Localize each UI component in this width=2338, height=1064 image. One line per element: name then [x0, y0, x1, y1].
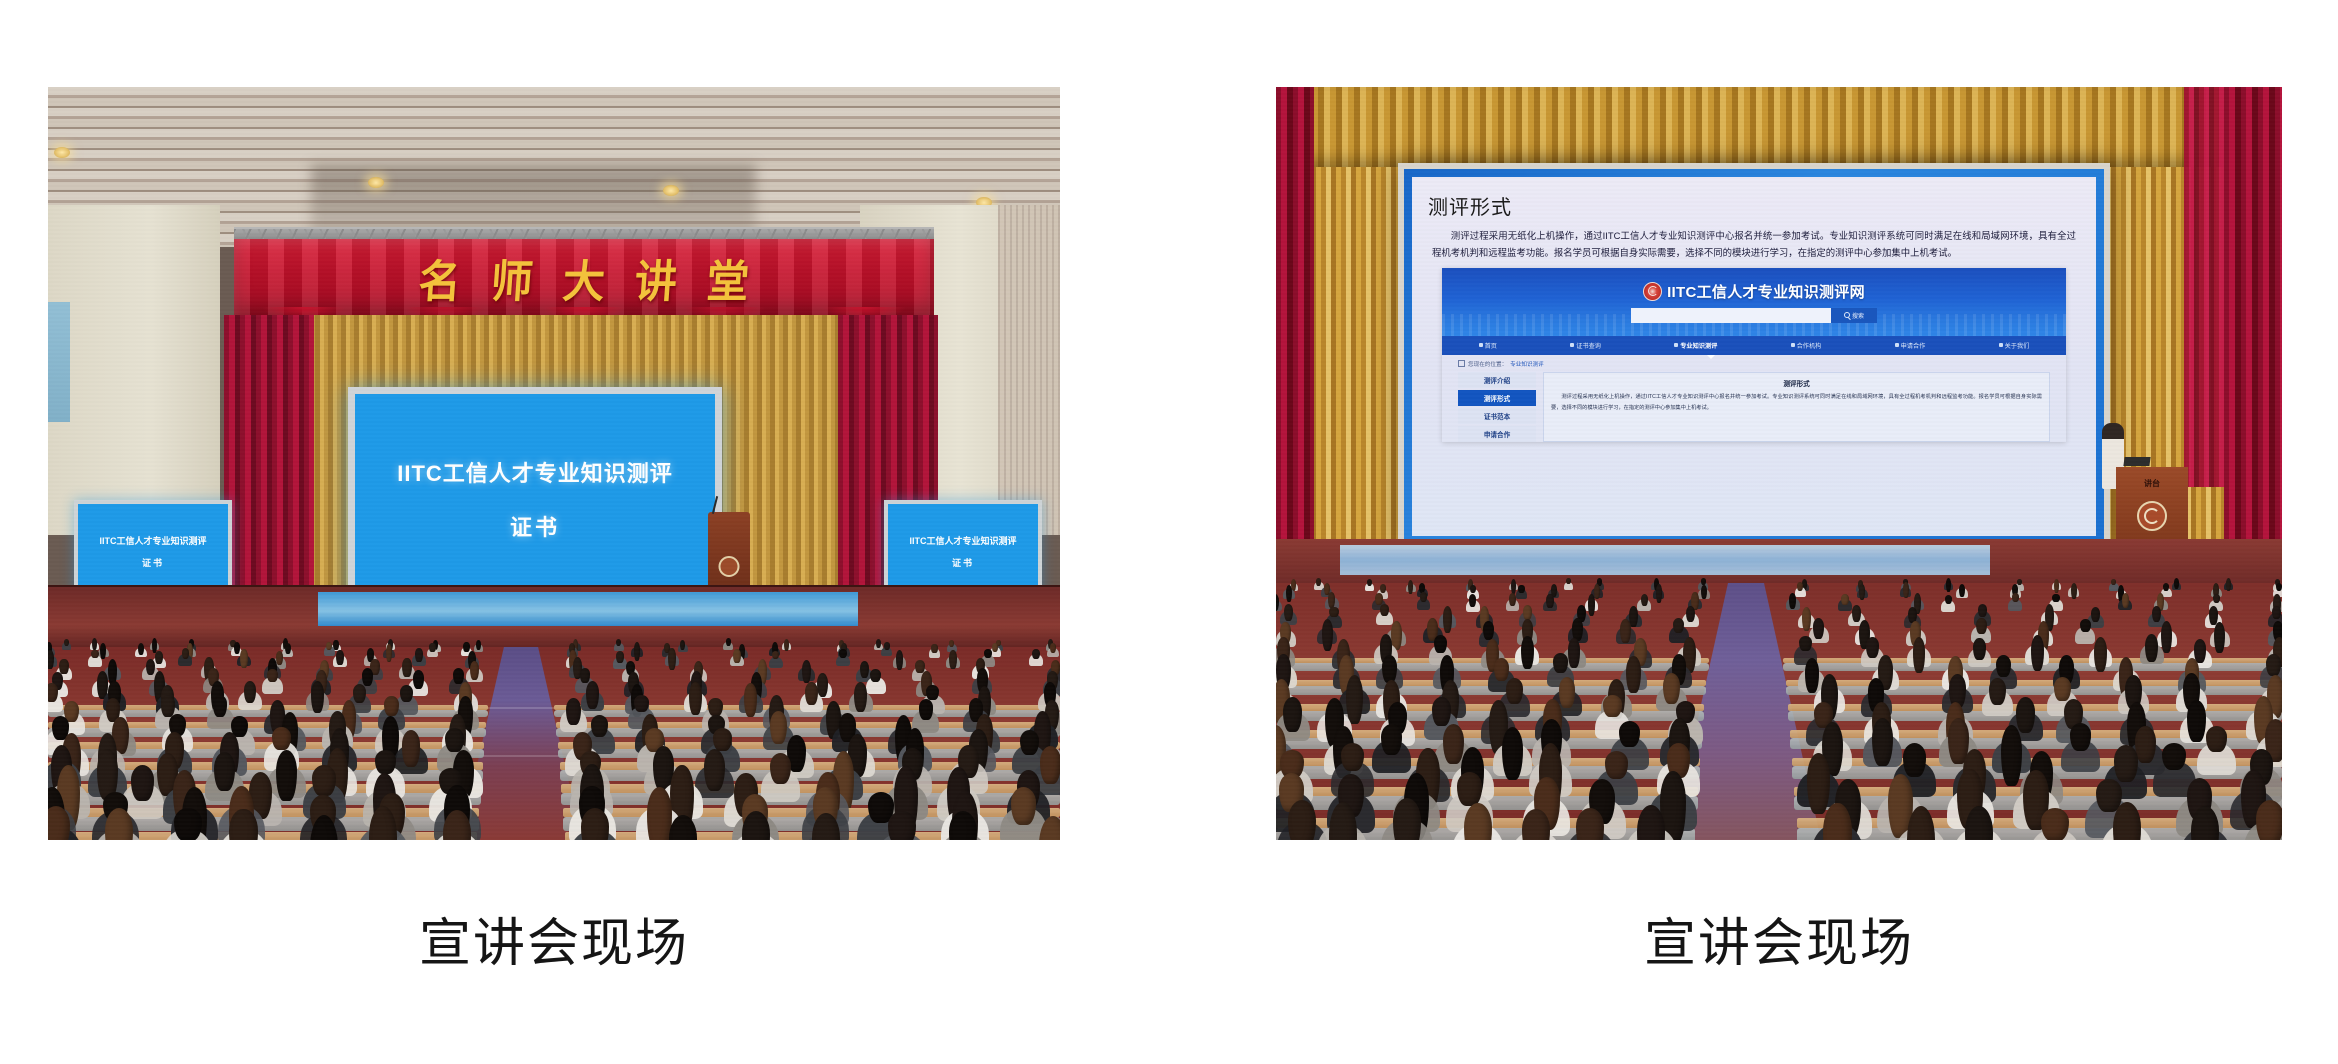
- audience-member-head: [949, 650, 957, 668]
- nav-item-label: 专业知识测评: [1680, 341, 1717, 350]
- main-screen-line-1: IITC工信人才专业知识测评: [397, 456, 673, 488]
- breadcrumb: 您现在的位置： 专业知识测评: [1458, 360, 2050, 368]
- side-screen-left-line-2: 证书: [142, 556, 164, 569]
- audience-member-head: [581, 808, 609, 840]
- iitc-logo-icon: [1643, 282, 1662, 301]
- website-brand: IITC工信人才专业知识测评网: [1643, 281, 1865, 302]
- audience-member-head: [213, 695, 228, 717]
- audience-member-head: [726, 638, 731, 646]
- audience-member-head: [1494, 658, 1509, 681]
- audience-member-head: [1576, 808, 1604, 840]
- audience-member-head: [1566, 578, 1571, 584]
- audience-member-head: [174, 808, 202, 840]
- audience-member-head: [1375, 593, 1383, 605]
- nav-item-label: 首页: [1485, 341, 1497, 350]
- audience-member-head: [1346, 675, 1363, 724]
- audience-member-head: [2213, 594, 2221, 603]
- audience-member-head: [1805, 658, 1820, 694]
- audience-member-head: [2031, 635, 2044, 670]
- website-title: IITC工信人才专业知识测评网: [1667, 281, 1865, 302]
- audience-member-head: [919, 699, 934, 720]
- website-main-panel: 测评形式 测评过程采用无纸化上机操作，通过IITC工信人才专业知识测评中心报名并…: [1543, 372, 2050, 442]
- audience-member-head: [2017, 579, 2022, 585]
- nav-item-label: 关于我们: [2005, 341, 2030, 350]
- figure-right: 测评形式 测评过程采用无纸化上机操作，通过IITC工信人才专业知识测评中心报名并…: [1276, 87, 2282, 973]
- audience-member-head: [1283, 697, 1302, 732]
- website-sidebar: 测评介绍 测评形式 证书范本: [1458, 372, 1536, 442]
- audience-member-head: [1603, 695, 1622, 716]
- partners-icon: [1791, 343, 1795, 347]
- audience-member-head: [234, 642, 240, 654]
- presentation-slide: 测评形式 测评过程采用无纸化上机操作，通过IITC工信人才专业知识测评中心报名并…: [1412, 177, 2096, 536]
- audience-member-head: [704, 749, 725, 791]
- audience-member-head: [2187, 700, 2206, 742]
- stage-led-strip: [1340, 545, 1990, 575]
- audience-member-head: [155, 651, 163, 665]
- audience-member-head: [2174, 578, 2179, 589]
- audience-member-head: [1443, 724, 1464, 764]
- audience-member-head: [1329, 607, 1338, 618]
- audience-member-head: [2162, 743, 2185, 770]
- audience-member-head: [1040, 746, 1060, 784]
- slide-title: 测评形式: [1428, 191, 2080, 220]
- website-nav: 首页 证书查询 专业知识测评: [1442, 336, 2066, 355]
- audience-member-head: [870, 669, 881, 682]
- audience-member-head: [1521, 636, 1534, 670]
- audience-member-head: [375, 750, 396, 774]
- laptop-icon: [2123, 457, 2150, 466]
- nav-item-certificate-query[interactable]: 证书查询: [1570, 341, 1601, 350]
- ceiling-lamp-icon: [54, 147, 70, 158]
- audience-member-head: [2145, 634, 2158, 662]
- podium: [708, 512, 750, 592]
- audience-member-head: [770, 753, 791, 784]
- audience-member-head: [1322, 619, 1333, 651]
- stage-banner: 名师大讲堂: [234, 239, 934, 317]
- audience-member-head: [2152, 606, 2161, 622]
- audience-member-head: [285, 643, 291, 654]
- audience-member-head: [591, 715, 608, 737]
- audience-member-head: [1626, 656, 1641, 693]
- audience-member-head: [1518, 585, 1524, 593]
- sidebar-item-label: 证书范本: [1484, 411, 1510, 421]
- audience-member-head: [1341, 743, 1364, 771]
- audience-member-head: [384, 696, 399, 717]
- website-search-row: 搜索: [1631, 308, 1877, 323]
- stage-banner-text: 名师大讲堂: [387, 246, 782, 311]
- audience-member-head: [311, 681, 324, 712]
- audience-member-head: [616, 651, 624, 663]
- audience-member-head: [470, 661, 479, 681]
- audience-member-head: [1553, 653, 1568, 672]
- sidebar-item-intro[interactable]: 测评介绍: [1458, 372, 1536, 388]
- main-projection-screen: IITC工信人才专业知识测评 证书: [348, 387, 722, 611]
- projection-screen-frame: 测评形式 测评过程采用无纸化上机操作，通过IITC工信人才专业知识测评中心报名并…: [1398, 163, 2110, 550]
- audience-member-head: [984, 649, 992, 658]
- sidebar-item-certificate-sample[interactable]: 证书范本: [1458, 408, 1536, 424]
- audience-member-head: [386, 644, 392, 662]
- audience-member-head: [1457, 772, 1483, 806]
- audience-member-head: [1020, 730, 1039, 755]
- breadcrumb-current[interactable]: 专业知识测评: [1510, 360, 1544, 368]
- certificate-icon: [1570, 343, 1574, 347]
- red-curtain-right: [2224, 87, 2282, 607]
- audience-member-head: [463, 642, 469, 652]
- audience-member-head: [1506, 678, 1523, 704]
- audience-member-head: [634, 642, 640, 660]
- audience-member-head: [2114, 745, 2137, 782]
- audience-member-head: [1434, 635, 1447, 653]
- audience-member-head: [362, 668, 373, 685]
- audience-member-head: [402, 658, 411, 678]
- audience-member-head: [2052, 594, 2060, 603]
- audience-member-head: [1502, 727, 1523, 780]
- audience-member-head: [1619, 721, 1640, 747]
- audience-member-head: [2214, 622, 2225, 654]
- side-screen-right-line-1: IITC工信人才专业知识测评: [910, 534, 1017, 547]
- audience-member-head: [580, 668, 591, 683]
- audience-member-head: [1470, 585, 1476, 594]
- breadcrumb-home-icon: [1458, 360, 1465, 367]
- audience-member-head: [1945, 595, 1953, 605]
- audience-member-head: [1367, 579, 1372, 586]
- audience-member-head: [733, 649, 741, 663]
- audience-member-head: [1656, 584, 1662, 602]
- projection-screen: 测评形式 测评过程采用无纸化上机操作，通过IITC工信人才专业知识测评中心报名并…: [1404, 169, 2104, 544]
- audience-member-head: [240, 649, 248, 668]
- audience-member-head: [770, 711, 787, 744]
- audience-member-head: [1799, 636, 1812, 651]
- audience-member-head: [267, 669, 278, 683]
- audience-member-head: [888, 811, 916, 840]
- audience-member-head: [817, 673, 828, 697]
- audience-member-head: [1032, 649, 1040, 659]
- audience-member-head: [1381, 724, 1402, 755]
- audience-member-head: [2054, 677, 2071, 701]
- about-icon: [1999, 343, 2003, 347]
- audience-member-head: [1443, 606, 1452, 632]
- audience-member-head: [1546, 594, 1554, 609]
- audience-member-head: [926, 685, 939, 700]
- audience-member-head: [138, 643, 144, 655]
- audience-member-head: [276, 651, 284, 665]
- audience-member-head: [336, 650, 344, 666]
- audience-member-head: [2161, 621, 2172, 653]
- sidebar-item-apply[interactable]: 申请合作: [1458, 426, 1536, 442]
- podium-emblem-icon: [2137, 501, 2167, 531]
- nav-item-home[interactable]: 首页: [1479, 341, 1497, 350]
- nav-item-label: 申请合作: [1901, 341, 1926, 350]
- audience-member-head: [59, 659, 68, 675]
- audience-member-head: [2135, 726, 2156, 763]
- sidebar-item-label: 申请合作: [1484, 429, 1510, 439]
- panel-body: 测评过程采用无纸化上机操作，通过IITC工信人才专业知识测评中心报名并统一参加考…: [1551, 392, 2042, 414]
- red-curtain-right-inner: [2184, 87, 2224, 487]
- audience-member-head: [1594, 584, 1600, 599]
- audience-member-head: [1973, 638, 1986, 661]
- side-screen-left-line-1: IITC工信人才专业知识测评: [100, 534, 207, 547]
- audience-member-head: [429, 643, 435, 652]
- audience-member-head: [92, 638, 97, 650]
- audience-member-head: [1841, 594, 1849, 605]
- audience-member-head: [1663, 673, 1680, 704]
- audience-member-head: [1509, 593, 1517, 606]
- website-search-input[interactable]: [1631, 308, 1831, 323]
- audience-member-head: [48, 650, 54, 669]
- audience-member-head: [647, 787, 673, 840]
- audience-member-head: [1989, 678, 2006, 705]
- audience-member-head: [453, 668, 464, 684]
- audience-member-head: [146, 659, 155, 675]
- slide-body-text: 测评过程采用无纸化上机操作，通过IITC工信人才专业知识测评中心报名并统一参加考…: [1428, 227, 2080, 262]
- audience-member-head: [402, 730, 421, 766]
- sidebar-item-label: 测评介绍: [1484, 375, 1510, 385]
- audience-member-head: [2122, 593, 2130, 608]
- website-header: IITC工信人才专业知识测评网 搜索: [1442, 268, 2066, 336]
- audience-member-head: [2256, 800, 2282, 840]
- ceiling-lamp-icon: [368, 177, 384, 188]
- audience-member-head: [1011, 787, 1037, 825]
- audience-member-head: [1976, 618, 1987, 635]
- nav-item-label: 合作机构: [1797, 341, 1822, 350]
- breadcrumb-label: 您现在的位置：: [1468, 360, 1507, 368]
- apply-icon: [1895, 343, 1899, 347]
- audience-member-head: [2071, 583, 2077, 599]
- audience-member-head: [1328, 592, 1336, 608]
- audience-member-head: [1813, 618, 1824, 639]
- audience-member-head: [1380, 604, 1389, 616]
- audience-member-head: [312, 765, 335, 796]
- assessment-icon: [1674, 343, 1678, 347]
- side-screen-right-line-2: 证书: [952, 556, 974, 569]
- figure-left: 名师大讲堂 IITC工信人才专业知识测评 证书 IITC工信人才专业知识测评 证…: [48, 87, 1060, 973]
- audience-member-head: [1802, 607, 1811, 631]
- audience-member-head: [415, 648, 423, 661]
- embedded-website-screenshot: IITC工信人才专业知识测评网 搜索: [1442, 268, 2066, 442]
- audience-member-head: [91, 650, 99, 659]
- audience-member-head: [1393, 798, 1421, 840]
- chair-back: [1786, 686, 2282, 695]
- audience-member-head: [2094, 637, 2107, 671]
- audience-member-head: [214, 752, 235, 791]
- audience-member-head: [566, 698, 581, 725]
- audience-member-head: [2054, 579, 2059, 594]
- audience-member-head: [1996, 655, 2011, 677]
- audience-member-head: [64, 639, 69, 646]
- audience-member-head: [2276, 583, 2282, 591]
- audience-member-head: [2206, 726, 2227, 751]
- wall-left-window: [48, 302, 70, 422]
- audience-member-head: [744, 683, 757, 717]
- audience-member-head: [1559, 677, 1576, 708]
- audience-member-head: [131, 765, 154, 801]
- audience-member-head: [708, 698, 723, 716]
- audience-member-head: [896, 650, 904, 670]
- nav-item-partners[interactable]: 合作机构: [1791, 341, 1822, 350]
- audience-member-head: [1605, 751, 1628, 779]
- audience-member-head: [2041, 808, 2069, 840]
- audience-member-head: [413, 670, 424, 689]
- nav-item-assessment[interactable]: 专业知识测评: [1674, 341, 1717, 350]
- document-page: 名师大讲堂 IITC工信人才专业知识测评 证书 IITC工信人才专业知识测评 证…: [0, 0, 2338, 1064]
- figure-row: 名师大讲堂 IITC工信人才专业知识测评 证书 IITC工信人才专业知识测评 证…: [0, 0, 2338, 1064]
- audience-member-head: [1522, 809, 1550, 840]
- audience-member-head: [48, 683, 58, 702]
- photo-right-auditorium: 测评形式 测评过程采用无纸化上机操作，通过IITC工信人才专业知识测评中心报名并…: [1276, 87, 2282, 840]
- audience-member-head: [1523, 605, 1532, 620]
- panel-title: 测评形式: [1551, 378, 2042, 388]
- audience-member-head: [2266, 654, 2281, 676]
- stage-curtain-left: [224, 315, 314, 585]
- website-content: 测评介绍 测评形式 证书范本: [1458, 372, 2050, 442]
- search-icon: [1844, 312, 1850, 318]
- audience-member-head: [2091, 607, 2100, 622]
- audience-member-head: [353, 684, 366, 703]
- audience-member-head: [1620, 619, 1631, 644]
- audience-member-head: [586, 681, 599, 709]
- audience-member-head: [1432, 697, 1451, 727]
- audience-member-head: [272, 727, 291, 750]
- audience-member-head: [2016, 697, 2035, 732]
- audience-member-head: [2272, 606, 2281, 618]
- audience-member-head: [2070, 723, 2091, 751]
- home-icon: [1479, 343, 1483, 347]
- audience-member-head: [854, 682, 867, 712]
- website-search-button-label: 搜索: [1852, 311, 1864, 320]
- audience-member-head: [2163, 583, 2169, 591]
- audience-member-head: [876, 639, 881, 648]
- website-search-button[interactable]: 搜索: [1831, 308, 1877, 323]
- audience-member-head: [276, 750, 297, 802]
- podium-name-plate: 讲台: [2144, 478, 2160, 489]
- nav-active-caret-icon: [1707, 355, 1715, 359]
- aisle-step: [478, 707, 566, 709]
- audience-member-head: [1946, 578, 1951, 591]
- figure-right-caption: 宣讲会现场: [1276, 916, 2282, 973]
- main-screen-line-2: 证书: [510, 510, 560, 542]
- audience-member-head: [689, 682, 702, 714]
- audience-member-head: [805, 682, 818, 705]
- wall-left: [48, 205, 220, 535]
- podium-emblem-icon: [719, 556, 740, 577]
- audience-member-head: [1978, 604, 1987, 616]
- audience-member-head: [784, 639, 789, 651]
- figure-left-caption: 宣讲会现场: [48, 916, 1060, 973]
- audience-member-head: [400, 685, 413, 702]
- audience-member-head: [326, 642, 332, 650]
- stage-led-strip: [318, 592, 858, 626]
- audience-member-head: [1701, 585, 1707, 600]
- audience-member-head: [2113, 802, 2141, 840]
- audience-member-head: [992, 643, 998, 652]
- audience-member-head: [668, 648, 676, 670]
- audience-member-head: [1903, 743, 1926, 777]
- audience-member-head: [1913, 637, 1926, 673]
- audience-member-head: [1286, 585, 1292, 603]
- audience-member-head: [1284, 604, 1293, 621]
- audience-member-head: [161, 695, 176, 717]
- audience-member-head: [915, 660, 924, 673]
- audience-member-head: [1673, 618, 1684, 633]
- audience-member-head: [1382, 655, 1397, 683]
- audience-member-head: [2012, 593, 2020, 602]
- sidebar-item-label: 测评形式: [1484, 393, 1510, 403]
- audience-member-head: [1903, 582, 1909, 598]
- sidebar-item-format[interactable]: 测评形式: [1458, 390, 1536, 406]
- photo-left-auditorium: 名师大讲堂 IITC工信人才专业知识测评 证书 IITC工信人才专业知识测评 证…: [48, 87, 1060, 840]
- audience-member-head: [2001, 725, 2022, 786]
- gold-curtain-valance: [1276, 87, 2282, 167]
- audience-member-head: [2226, 578, 2231, 591]
- wall-right-stripe: [998, 205, 1060, 535]
- audience-member-head: [2080, 619, 2091, 632]
- audience-member-head: [182, 648, 190, 659]
- audience-member-head: [713, 728, 732, 751]
- audience-member-head: [931, 644, 937, 654]
- audience-member-head: [1959, 584, 1965, 597]
- audience-member-head: [839, 649, 847, 658]
- audience-member-head: [1420, 592, 1428, 601]
- audience-member-head: [884, 642, 890, 650]
- audience-member-head: [1872, 718, 1893, 766]
- audience-member-head: [1866, 637, 1879, 658]
- audience-member-head: [445, 728, 464, 752]
- nav-item-about[interactable]: 关于我们: [1999, 341, 2030, 350]
- ceiling-lamp-icon: [663, 185, 679, 196]
- audience-member-head: [1380, 584, 1386, 593]
- nav-item-label: 证书查询: [1576, 341, 1601, 350]
- audience-member-head: [1288, 800, 1316, 841]
- audience-member-head: [634, 695, 649, 712]
- red-curtain-left: [1276, 87, 1314, 607]
- audience-member-head: [1050, 643, 1056, 653]
- audience-member-head: [1641, 594, 1649, 607]
- audience-member-head: [1588, 594, 1596, 616]
- nav-item-apply[interactable]: 申请合作: [1895, 341, 1926, 350]
- audience-member-head: [1807, 753, 1830, 814]
- audience-member-head: [1568, 638, 1581, 668]
